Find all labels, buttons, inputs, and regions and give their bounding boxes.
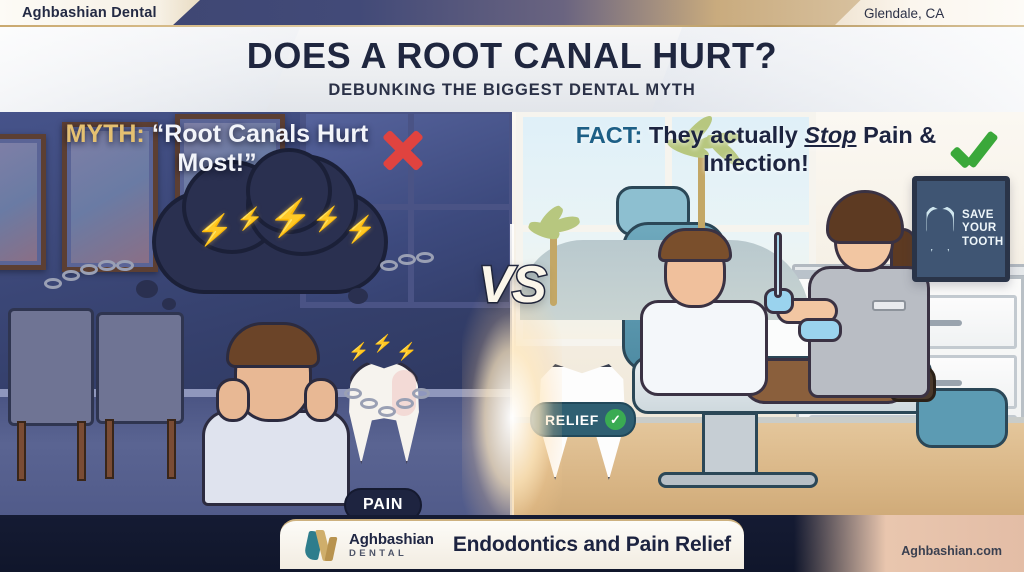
chain-link-icon xyxy=(98,260,116,271)
chain-link-icon xyxy=(378,406,396,417)
top-bar: Aghbashian Dental Glendale, CA xyxy=(0,0,1024,26)
fact-label: FACT: xyxy=(576,122,643,148)
footer-plate: Aghbashian DENTAL Endodontics and Pain R… xyxy=(280,519,744,569)
monitor-line-1: SAVE xyxy=(962,209,1004,222)
cloud-puff xyxy=(136,280,158,298)
logo-wordmark: Aghbashian DENTAL xyxy=(349,532,434,559)
pain-badge: PAIN xyxy=(344,488,422,515)
lightning-bolt-icon: ⚡ xyxy=(312,208,342,232)
red-x-icon xyxy=(375,122,429,176)
footer-bar: Aghbashian DENTAL Endodontics and Pain R… xyxy=(0,515,1024,572)
waiting-chair xyxy=(8,308,94,426)
fact-statement-1: They actually xyxy=(649,122,804,148)
tooth-icon xyxy=(924,206,956,252)
myth-quote: “Root Canals Hurt Most!” xyxy=(152,120,369,177)
wall-monitor: SAVE YOUR TOOTH xyxy=(912,176,1010,282)
glove-icon xyxy=(798,318,842,342)
cloud-puff xyxy=(348,288,368,304)
location-label: Glendale, CA xyxy=(864,6,944,21)
chain-link-icon xyxy=(44,278,62,289)
fact-heading: FACT: They actually Stop Pain & Infectio… xyxy=(572,121,940,177)
header-band: DOES A ROOT CANAL HURT? DEBUNKING THE BI… xyxy=(0,27,1024,112)
brand-name: Aghbashian Dental xyxy=(22,5,157,21)
lightning-bolt-icon: ⚡ xyxy=(344,216,376,242)
chain-link-icon xyxy=(344,388,362,399)
logo-name: Aghbashian xyxy=(349,532,434,547)
page-subtitle: DEBUNKING THE BIGGEST DENTAL MYTH xyxy=(0,81,1024,100)
footer-tagline: Endodontics and Pain Relief xyxy=(453,533,731,557)
chain-link-icon xyxy=(80,264,98,275)
chain-link-icon xyxy=(62,270,80,281)
lightning-bolt-icon: ⚡ xyxy=(236,208,263,230)
chain-link-icon xyxy=(380,260,398,271)
dental-chair-base xyxy=(702,412,758,478)
cloud-puff xyxy=(162,298,176,310)
chain-link-icon xyxy=(116,260,134,271)
website-url: Aghbashian.com xyxy=(901,544,1002,558)
monitor-text: SAVE YOUR TOOTH xyxy=(962,209,1004,248)
wall-frame-icon xyxy=(0,134,46,270)
dental-tool-icon xyxy=(774,232,782,298)
chain-link-icon xyxy=(360,398,378,409)
chain-link-icon xyxy=(412,388,430,399)
infographic-poster: Aghbashian Dental Glendale, CA DOES A RO… xyxy=(0,0,1024,572)
location-ribbon: Glendale, CA xyxy=(834,0,1024,26)
pain-spark-icon: ⚡ xyxy=(396,342,417,362)
fact-emphasis: Stop xyxy=(804,122,856,148)
pain-spark-icon: ⚡ xyxy=(348,342,369,362)
check-circle-icon: ✓ xyxy=(605,409,626,430)
logo-subtitle: DENTAL xyxy=(349,549,434,559)
gold-divider-line xyxy=(0,25,1024,27)
myth-heading: MYTH: “Root Canals Hurt Most!” xyxy=(52,120,382,178)
chain-link-icon xyxy=(398,254,416,265)
dental-chair-foot xyxy=(658,472,818,488)
page-title: DOES A ROOT CANAL HURT? xyxy=(0,35,1024,77)
lightning-bolt-icon: ⚡ xyxy=(196,216,233,246)
logo-icon xyxy=(306,529,340,561)
chain-link-icon xyxy=(396,398,414,409)
anxious-patient-illustration xyxy=(186,282,366,502)
brand-ribbon: Aghbashian Dental xyxy=(0,0,200,26)
chain-link-icon xyxy=(416,252,434,263)
waiting-chair xyxy=(96,312,184,424)
monitor-line-2: YOUR xyxy=(962,222,1004,235)
vs-label: VS xyxy=(466,255,558,315)
myth-label: MYTH: xyxy=(66,120,145,148)
pain-spark-icon: ⚡ xyxy=(372,334,393,354)
monitor-line-3: TOOTH xyxy=(962,236,1004,249)
green-check-icon xyxy=(944,124,998,178)
lightning-bolt-icon: ⚡ xyxy=(268,200,313,236)
